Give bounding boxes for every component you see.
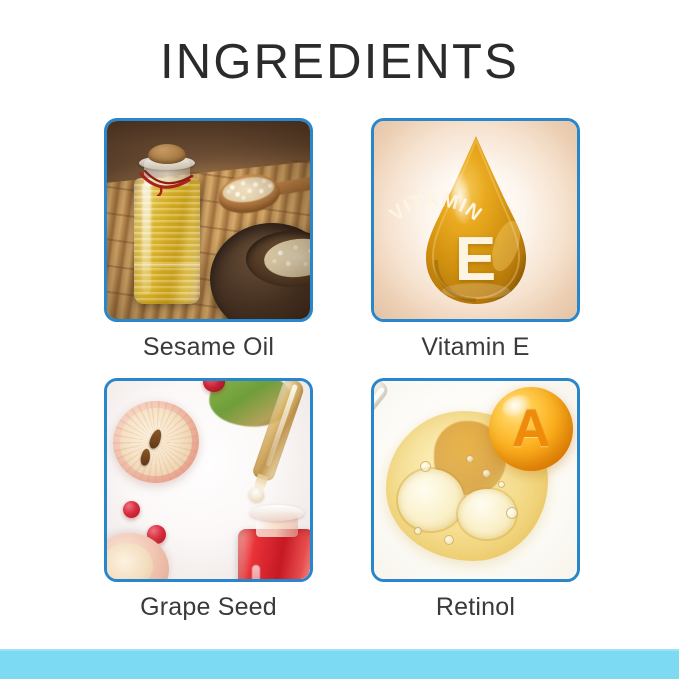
bottle-body — [134, 178, 200, 304]
retinol-image-frame[interactable]: A — [371, 378, 580, 582]
sesame-oil-image-frame[interactable] — [104, 118, 313, 322]
ingredient-card-retinol[interactable]: A Retinol — [371, 378, 580, 622]
red-serum-bottle-icon — [234, 499, 310, 579]
bubble-3 — [506, 507, 518, 519]
vitamin-e-illustration: VITAMIN E — [374, 121, 577, 319]
bottom-accent-bar — [0, 649, 679, 679]
puddle-blob-1 — [398, 469, 464, 531]
ingredient-caption-sesame-oil: Sesame Oil — [104, 333, 313, 362]
oil-droplet-icon — [414, 134, 538, 306]
ingredient-caption-vitamin-e: Vitamin E — [371, 333, 580, 362]
bubble-6 — [498, 481, 505, 488]
red-bottle-highlight — [252, 565, 260, 579]
grape-bottom-flesh — [107, 543, 153, 579]
berry-icon-1 — [123, 501, 140, 518]
bubble-1 — [420, 461, 431, 472]
ingredient-caption-retinol: Retinol — [371, 593, 580, 622]
page-title: INGREDIENTS — [0, 38, 679, 87]
bubble-5 — [414, 527, 422, 535]
bottle-highlight — [142, 182, 151, 294]
grape-seed-image-frame[interactable] — [104, 378, 313, 582]
vitamin-letter-a: A — [489, 387, 573, 471]
red-twine-icon — [135, 170, 197, 196]
bubble-4 — [444, 535, 454, 545]
grape-seed-photo — [107, 381, 310, 579]
vitamin-e-image-frame[interactable]: VITAMIN E — [371, 118, 580, 322]
ingredient-caption-grape-seed: Grape Seed — [104, 593, 313, 622]
ingredient-card-sesame-oil[interactable]: Sesame Oil — [104, 118, 313, 362]
oil-bottle-icon — [131, 142, 203, 304]
ingredients-page: INGREDIENTS — [0, 0, 679, 679]
retinol-illustration: A — [374, 381, 577, 579]
ingredient-card-vitamin-e[interactable]: VITAMIN E Vitamin E — [371, 118, 580, 362]
red-bottle-lip — [250, 505, 304, 521]
bubble-7 — [466, 455, 474, 463]
vitamin-a-sphere-icon: A — [489, 387, 573, 471]
cork-stopper-icon — [148, 144, 186, 164]
sesame-oil-photo — [107, 121, 310, 319]
ingredient-card-grape-seed[interactable]: Grape Seed — [104, 378, 313, 622]
